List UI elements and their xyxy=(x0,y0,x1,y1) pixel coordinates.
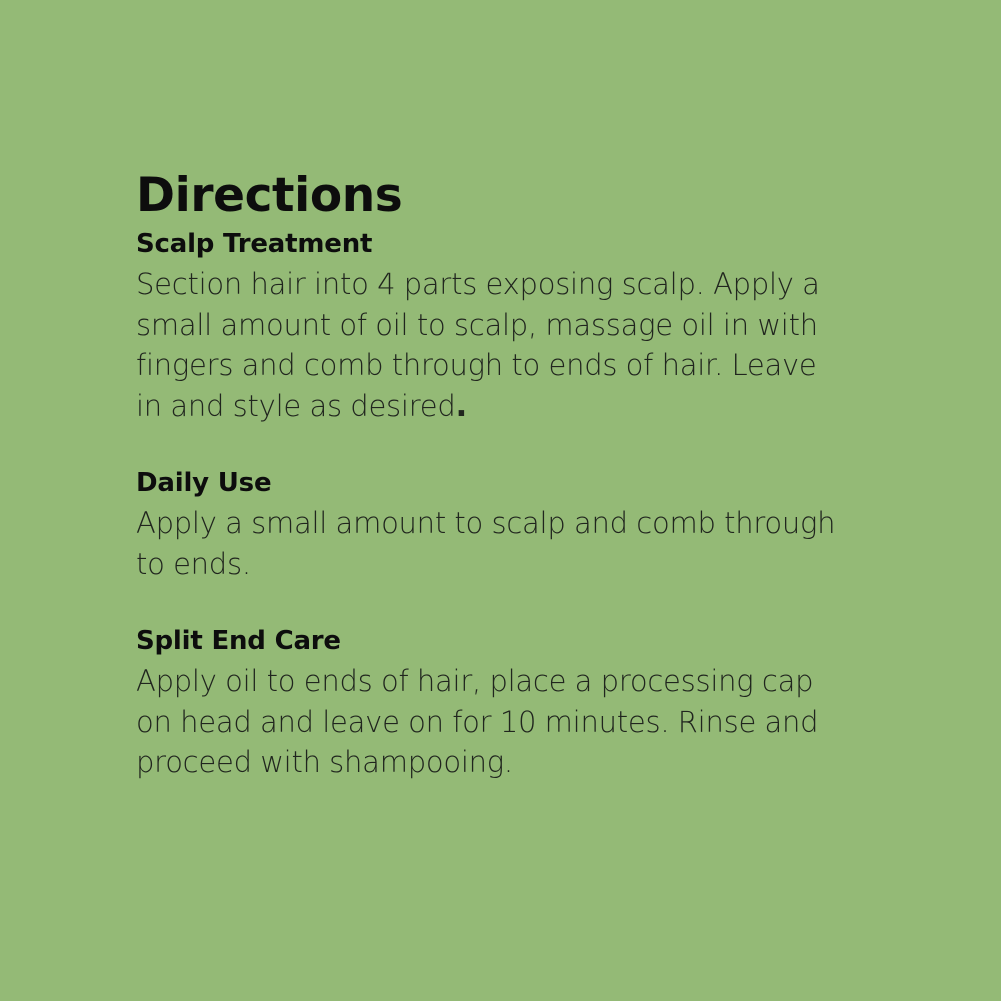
section-heading-split-end-care: Split End Care xyxy=(136,625,836,658)
section-body-text: Section hair into 4 parts exposing scalp… xyxy=(136,267,820,423)
section-heading-scalp-treatment: Scalp Treatment xyxy=(136,228,836,261)
section-body-daily-use: Apply a small amount to scalp and comb t… xyxy=(136,503,836,584)
section-split-end-care: Split End Care Apply oil to ends of hair… xyxy=(136,625,836,783)
section-daily-use: Daily Use Apply a small amount to scalp … xyxy=(136,467,836,584)
section-scalp-treatment: Scalp Treatment Section hair into 4 part… xyxy=(136,228,836,426)
section-body-split-end-care: Apply oil to ends of hair, place a proce… xyxy=(136,661,836,783)
section-heading-daily-use: Daily Use xyxy=(136,467,836,500)
directions-card: Directions Scalp Treatment Section hair … xyxy=(0,0,1001,1001)
emphasized-period: . xyxy=(456,388,468,424)
page-title: Directions xyxy=(136,168,836,224)
section-body-scalp-treatment: Section hair into 4 parts exposing scalp… xyxy=(136,264,836,426)
